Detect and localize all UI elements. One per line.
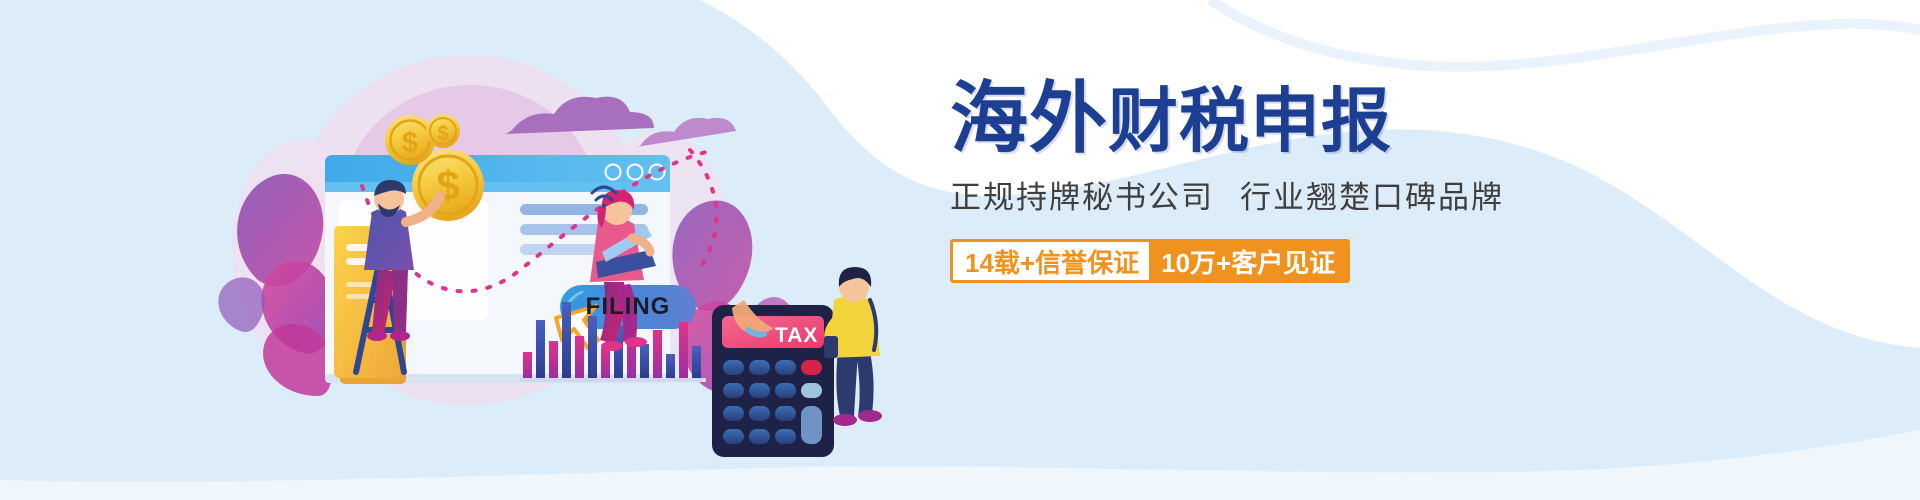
headline-part-1: 海外 bbox=[950, 74, 1108, 162]
page-title: 海外财税申报 bbox=[950, 78, 1590, 161]
trust-badge-group: 14载+信誉保证 10万+客户见证 bbox=[950, 239, 1350, 283]
svg-text:$: $ bbox=[437, 123, 448, 145]
hero-illustration: $ $ $ bbox=[0, 0, 950, 500]
badge-customers: 10万+客户见证 bbox=[1149, 242, 1347, 280]
coin-small: $ bbox=[426, 114, 460, 148]
badge-experience: 14载+信誉保证 bbox=[953, 242, 1149, 280]
banner-root: $ $ $ bbox=[0, 0, 1920, 500]
subtitle-left: 正规持牌秘书公司 bbox=[950, 180, 1214, 215]
coin-medium: $ bbox=[385, 115, 435, 165]
calculator bbox=[712, 300, 834, 457]
subtitle-right: 行业翘楚口碑品牌 bbox=[1240, 180, 1504, 215]
svg-text:$: $ bbox=[402, 127, 418, 159]
page-subtitle: 正规持牌秘书公司行业翘楚口碑品牌 bbox=[950, 179, 1590, 217]
decor-leaves-left bbox=[218, 174, 334, 396]
headline-part-2: 财税申报 bbox=[1108, 82, 1392, 160]
marketing-copy: 海外财税申报 正规持牌秘书公司行业翘楚口碑品牌 14载+信誉保证 10万+客户见… bbox=[950, 78, 1590, 368]
